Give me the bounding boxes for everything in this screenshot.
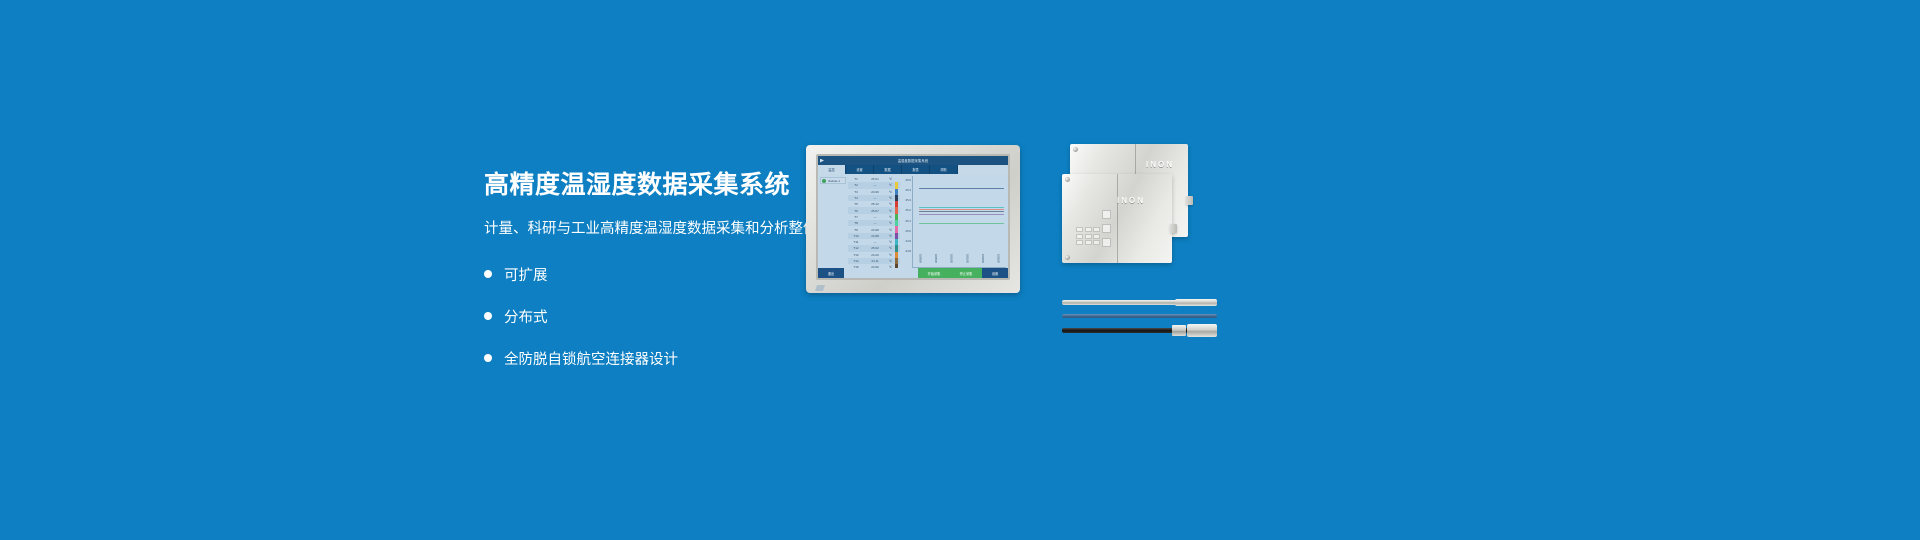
connector-body <box>1187 324 1217 337</box>
action-bar-spacer <box>844 268 918 278</box>
y-axis-tick-label: 25.5 <box>906 178 911 182</box>
start-acquisition-button[interactable]: 开始采集 <box>918 268 950 278</box>
brand-logo-front: INON <box>1117 196 1145 205</box>
x-axis-tick-label: 10:05:00 <box>934 254 937 268</box>
channel-id: T7 <box>848 215 864 219</box>
channel-unit: ℃ <box>886 215 895 219</box>
tab-monitor[interactable]: 监控 <box>818 165 846 174</box>
channel-value: 24.88 <box>864 234 886 238</box>
tree-node-label: Module-1 <box>828 179 841 183</box>
sensor-module-group: INON INON <box>1062 144 1212 294</box>
bullet-dot-icon <box>484 354 492 362</box>
y-axis-tick-label: 25.0 <box>906 229 911 233</box>
device-tree: Module-1 <box>818 174 848 268</box>
channel-unit: ℃ <box>886 259 895 263</box>
channel-unit: ℃ <box>886 183 895 187</box>
channel-id: T11 <box>848 240 864 244</box>
channel-value: 24.20 <box>864 253 886 257</box>
channel-value: 25.12 <box>864 202 886 206</box>
channel-unit: ℃ <box>886 190 895 194</box>
feature-label: 分布式 <box>504 306 548 327</box>
probe-blue-cable <box>1062 314 1217 318</box>
channel-id: T1 <box>848 177 864 181</box>
tab-settings[interactable]: 设置 <box>846 165 874 174</box>
module-port-group <box>1102 210 1111 247</box>
feature-label: 全防脱自锁航空连接器设计 <box>504 348 678 369</box>
channel-id: T2 <box>848 183 864 187</box>
y-axis-tick-label: 24.8 <box>906 249 911 253</box>
channel-unit: ℃ <box>886 196 895 200</box>
trend-chart: 25.525.425.325.225.125.024.924.8 10:00:0… <box>900 174 1008 268</box>
channel-unit: ℃ <box>886 253 895 257</box>
sensor-probe-group <box>1062 300 1217 346</box>
channel-id: T9 <box>848 228 864 232</box>
settings-button[interactable]: 设置 <box>982 268 1008 278</box>
channel-id: T3 <box>848 190 864 194</box>
channel-unit: ℃ <box>886 221 895 225</box>
screw-icon <box>1065 177 1070 182</box>
chart-series-line <box>919 223 1005 224</box>
channel-value: --- <box>864 196 886 200</box>
chart-series-line <box>919 214 1005 215</box>
tab-report[interactable]: 报表 <box>902 165 930 174</box>
channel-value: --- <box>864 215 886 219</box>
channel-id: T12 <box>848 246 864 250</box>
channel-id: T6 <box>848 209 864 213</box>
channel-table[interactable]: T125.01℃T2---℃T324.99℃T4---℃T525.12℃T625… <box>848 174 900 268</box>
y-axis-tick-label: 25.2 <box>906 208 911 212</box>
action-bar: 退出 开始采集 停止采集 设置 <box>818 268 1008 278</box>
channel-value: 24.11 <box>864 259 886 263</box>
probe-tip <box>1175 299 1217 306</box>
feature-item-connector: 全防脱自锁航空连接器设计 <box>484 344 954 372</box>
app-titlebar: 温湿度数据采集系统 <box>818 156 1008 165</box>
channel-id: T14 <box>848 259 864 263</box>
panel-pc-stand <box>815 285 825 291</box>
panel-pc-bezel: 温湿度数据采集系统 监控 设置 数据 报表 帮助 <box>806 145 1020 293</box>
chart-series-line <box>919 207 1005 208</box>
tab-bar: 监控 设置 数据 报表 帮助 <box>818 165 1008 174</box>
channel-value: 24.99 <box>864 190 886 194</box>
exit-button[interactable]: 退出 <box>818 268 844 278</box>
module-mount-tab <box>1186 196 1193 205</box>
product-banner: 高精度温湿度数据采集系统 计量、科研与工业高精度温湿度数据采集和分析整体解决方案… <box>0 0 1920 540</box>
app-body: Module-1 T125.01℃T2---℃T324.99℃T4---℃T52… <box>818 174 1008 268</box>
tab-bar-filler <box>958 165 1008 174</box>
panel-pc-inner-frame: 温湿度数据采集系统 监控 设置 数据 报表 帮助 <box>816 154 1010 280</box>
panel-pc-screen: 温湿度数据采集系统 监控 设置 数据 报表 帮助 <box>818 156 1008 278</box>
tree-node-module-1[interactable]: Module-1 <box>820 177 846 184</box>
channel-unit: ℃ <box>886 246 895 250</box>
tab-help[interactable]: 帮助 <box>930 165 958 174</box>
brand-logo-rear: INON <box>1146 160 1174 169</box>
app-title: 温湿度数据采集系统 <box>818 158 1008 163</box>
aviation-connector <box>1172 324 1217 337</box>
channel-id: T8 <box>848 221 864 225</box>
y-axis-tick-label: 25.4 <box>906 188 911 192</box>
bullet-dot-icon <box>484 312 492 320</box>
channel-unit: ℃ <box>886 234 895 238</box>
module-seam <box>1117 174 1118 263</box>
channel-id: T4 <box>848 196 864 200</box>
y-axis-tick-label: 25.3 <box>906 198 911 202</box>
x-axis-tick-label: 10:00:00 <box>918 254 921 268</box>
connector-nut <box>1172 325 1186 336</box>
probe-stainless-rod <box>1062 300 1217 305</box>
channel-value: --- <box>864 240 886 244</box>
chart-y-axis: 25.525.425.325.225.125.024.924.8 <box>900 176 912 268</box>
stop-acquisition-button[interactable]: 停止采集 <box>950 268 982 278</box>
chart-series-line <box>919 211 1005 212</box>
sensor-module-front: INON <box>1062 174 1172 263</box>
channel-unit: ℃ <box>886 202 895 206</box>
module-mount-tab <box>1170 224 1177 233</box>
x-axis-tick-label: 10:20:00 <box>981 254 984 268</box>
channel-unit: ℃ <box>886 209 895 213</box>
screw-icon <box>1065 255 1070 260</box>
channel-id: T10 <box>848 234 864 238</box>
feature-label: 可扩展 <box>504 264 548 285</box>
channel-unit: ℃ <box>886 177 895 181</box>
feature-item-distributed: 分布式 <box>484 302 954 330</box>
chart-x-axis: 10:00:0010:05:0010:10:0010:15:0010:20:00… <box>912 254 1006 268</box>
tab-data[interactable]: 数据 <box>874 165 902 174</box>
channel-id: T5 <box>848 202 864 206</box>
bullet-dot-icon <box>484 270 492 278</box>
channel-unit: ℃ <box>886 240 895 244</box>
x-axis-tick-label: 10:15:00 <box>965 254 968 268</box>
chart-series-line <box>919 188 1005 189</box>
module-label-grid <box>1076 227 1100 245</box>
y-axis-tick-label: 25.1 <box>906 219 911 223</box>
channel-value: 25.02 <box>864 246 886 250</box>
x-axis-tick-label: 10:25:00 <box>997 254 1000 268</box>
channel-value: --- <box>864 183 886 187</box>
channel-value: 24.98 <box>864 228 886 232</box>
channel-id: T13 <box>848 253 864 257</box>
screw-icon <box>1073 147 1078 152</box>
y-axis-tick-label: 24.9 <box>906 239 911 243</box>
channel-value: 25.07 <box>864 209 886 213</box>
power-icon <box>822 179 826 183</box>
channel-value: 25.01 <box>864 177 886 181</box>
channel-value: --- <box>864 221 886 225</box>
chart-series-line <box>919 209 1005 210</box>
panel-pc-device: 温湿度数据采集系统 监控 设置 数据 报表 帮助 <box>806 145 1020 293</box>
channel-unit: ℃ <box>886 228 895 232</box>
x-axis-tick-label: 10:10:00 <box>950 254 953 268</box>
